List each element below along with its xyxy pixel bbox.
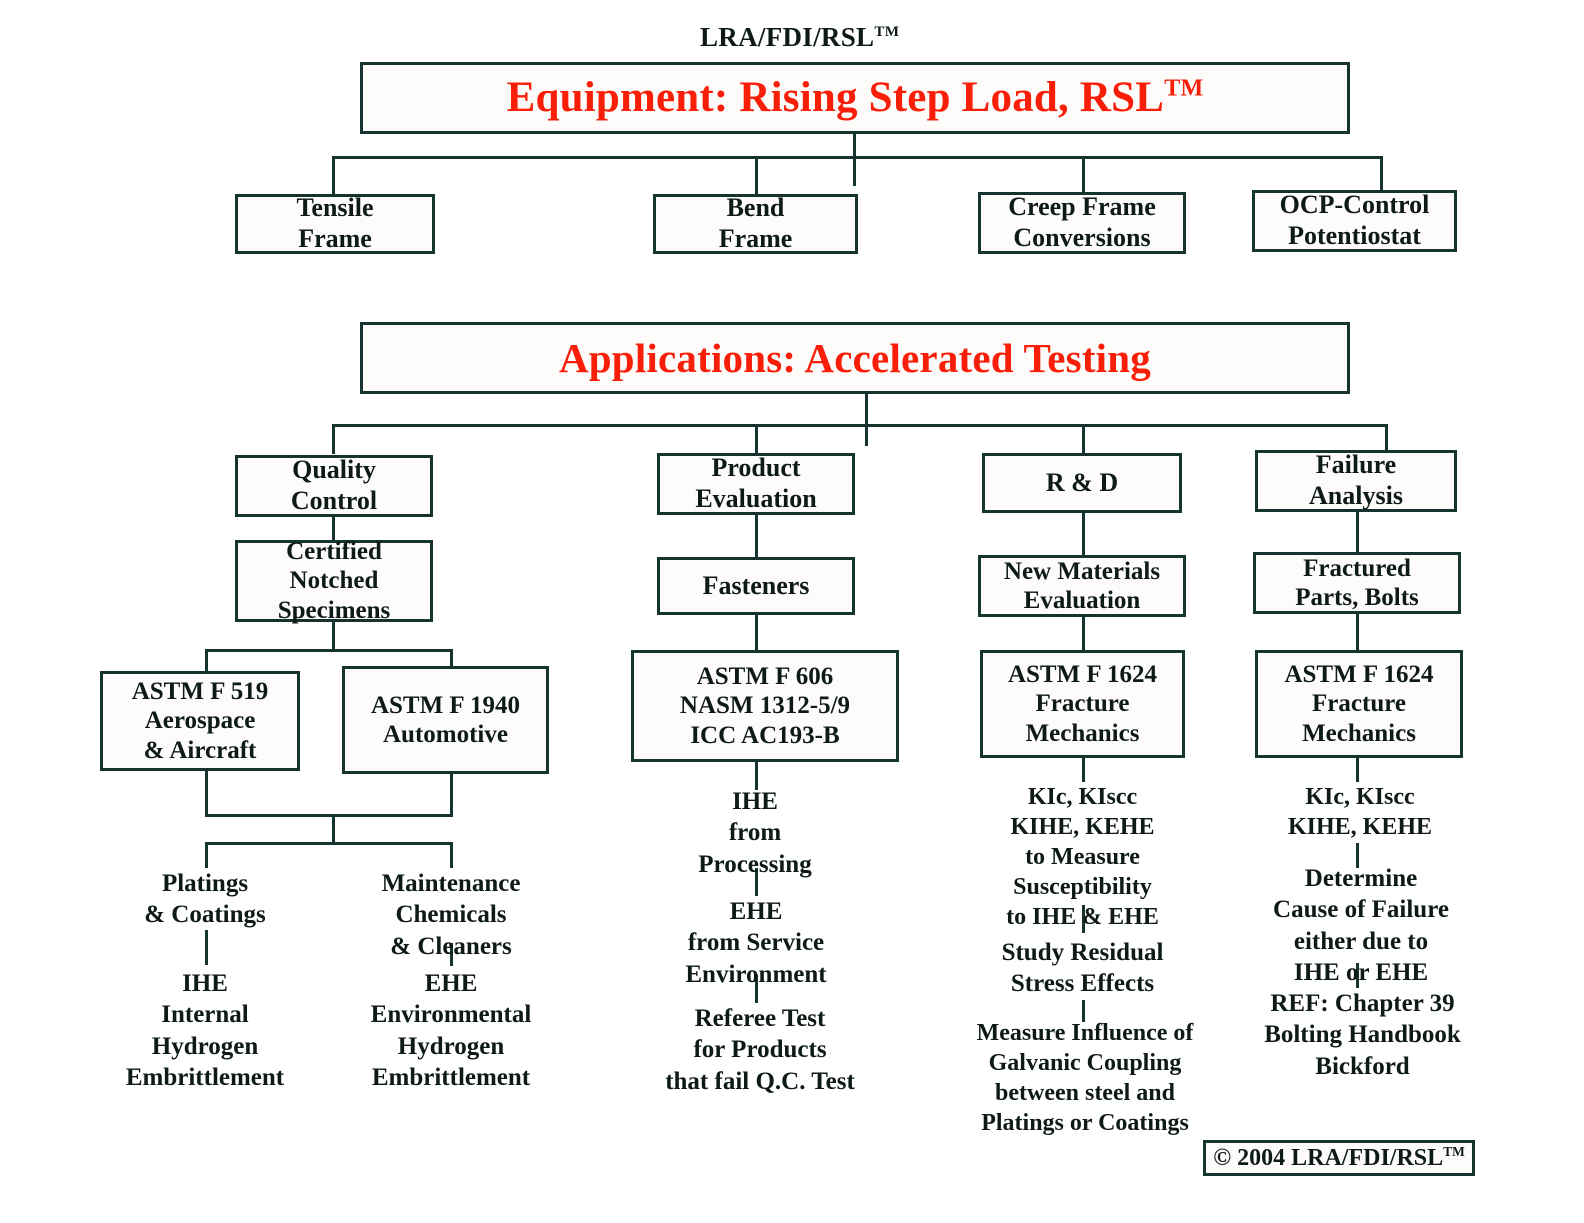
connector-astm-split-bus: [205, 649, 453, 652]
connector-rd-to-new-materials: [1082, 513, 1085, 555]
column-head-failure-analysis[interactable]: Failure Analysis: [1255, 450, 1457, 512]
label-platings-and-coatings: Platings & Coatings: [105, 868, 305, 931]
box-astm-f606-nasm-icc[interactable]: ASTM F 606 NASM 1312-5/9 ICC AC193-B: [631, 650, 899, 762]
equipment-title-box: Equipment: Rising Step Load, RSLTM: [360, 62, 1350, 134]
line-2: KIHE, KEHE: [1010, 814, 1154, 840]
line-2: Notched: [290, 567, 379, 594]
line-2: Automotive: [383, 721, 508, 748]
line-3: Specimens: [278, 597, 391, 624]
line-3: ICC AC193-B: [690, 722, 839, 749]
line-1: ASTM F 519: [132, 678, 269, 705]
line-3: & Aircraft: [144, 737, 257, 764]
line-1: Determine: [1305, 865, 1417, 892]
line-2: Frame: [298, 224, 372, 253]
equipment-box-creep-frame-conversions[interactable]: Creep Frame Conversions: [978, 192, 1186, 254]
line-2: Cause of Failure: [1273, 896, 1449, 923]
line-1: Quality: [292, 455, 376, 484]
line-3: Mechanics: [1302, 720, 1416, 747]
line-4: Embrittlement: [126, 1064, 284, 1091]
line-3: & Cleaners: [390, 933, 512, 960]
line-1: R & D: [1046, 468, 1118, 497]
equipment-title-text: Equipment: Rising Step Load, RSLTM: [363, 73, 1347, 124]
line-2: & Coatings: [144, 901, 266, 928]
box-fasteners[interactable]: Fasteners: [657, 557, 855, 615]
connector-equipment-trunk: [853, 134, 856, 186]
line-1: Tensile: [296, 193, 373, 222]
connector-equipment-drop-4: [1380, 156, 1383, 194]
line-2: Bolting Handbook: [1264, 1021, 1461, 1048]
label-ihe-from-processing: IHE from Processing: [645, 786, 865, 880]
line-3: Bickford: [1315, 1053, 1409, 1080]
connector-equipment-drop-3: [1082, 156, 1085, 194]
connector-f1940-down: [450, 774, 453, 816]
connector-leaf-split-bus: [205, 842, 453, 845]
line-4: IHE or EHE: [1294, 959, 1428, 986]
line-1: Measure Influence of: [977, 1020, 1194, 1046]
line-1: Fasteners: [703, 571, 810, 600]
connector-applications-drop-1: [332, 424, 335, 454]
connector-equipment-drop-1: [332, 156, 335, 194]
flowchart-canvas: LRA/FDI/RSLTM Equipment: Rising Step Loa…: [0, 0, 1584, 1223]
equipment-box-ocp-control-potentiostat[interactable]: OCP-Control Potentiostat: [1252, 190, 1457, 252]
column-head-product-evaluation[interactable]: Product Evaluation: [657, 453, 855, 515]
line-2: Control: [291, 486, 377, 515]
label-kic-measure-susceptibility: KIc, KIscc KIHE, KEHE to Measure Suscept…: [965, 782, 1200, 932]
line-2: Conversions: [1013, 223, 1150, 252]
line-2: from Service: [688, 929, 824, 956]
line-1: KIc, KIscc: [1305, 784, 1414, 810]
line-2: Internal: [161, 1001, 249, 1028]
connector-applications-trunk: [865, 394, 868, 446]
connector-platings-to-ihe: [205, 930, 208, 965]
label-study-residual-stress-effects: Study Residual Stress Effects: [960, 937, 1205, 1000]
connector-applications-drop-3: [1082, 424, 1085, 454]
connector-astm-drop-left: [205, 649, 208, 671]
connector-new-materials-to-astm: [1082, 617, 1085, 650]
line-2: Environmental: [371, 1001, 532, 1028]
line-2: Evaluation: [695, 484, 816, 513]
line-3: Environment: [685, 961, 826, 988]
line-2: Chemicals: [395, 901, 506, 928]
connector-equipment-bus: [332, 156, 1382, 159]
line-1: Bend: [727, 193, 785, 222]
line-3: Hydrogen: [152, 1033, 259, 1060]
line-2: Parts, Bolts: [1295, 584, 1419, 611]
box-astm-f1624-rd[interactable]: ASTM F 1624 Fracture Mechanics: [980, 650, 1185, 758]
line-3: either due to: [1294, 928, 1428, 955]
label-ihe-internal-hydrogen-embrittlement: IHE Internal Hydrogen Embrittlement: [95, 968, 315, 1093]
line-1: ASTM F 1624: [1008, 661, 1157, 688]
applications-title-text: Applications: Accelerated Testing: [363, 334, 1347, 382]
copyright-box: © 2004 LRA/FDI/RSLTM: [1203, 1140, 1475, 1176]
line-2: KIHE, KEHE: [1288, 814, 1432, 840]
equipment-box-ocp-control-potentiostat-label: OCP-Control Potentiostat: [1255, 190, 1454, 251]
line-4: Susceptibility: [1013, 874, 1152, 900]
connector-astm-merge-trunk: [332, 814, 335, 842]
box-new-materials-evaluation[interactable]: New Materials Evaluation: [978, 555, 1186, 617]
connector-f519-down: [205, 771, 208, 816]
line-1: Creep Frame: [1008, 192, 1156, 221]
box-astm-f1940[interactable]: ASTM F 1940 Automotive: [342, 666, 549, 774]
line-1: New Materials: [1004, 558, 1160, 585]
connector-leaf-drop-left: [205, 842, 208, 868]
line-1: OCP-Control: [1280, 190, 1430, 219]
equipment-box-bend-frame-label: Bend Frame: [656, 193, 855, 254]
line-3: to Measure: [1025, 844, 1140, 870]
line-1: KIc, KIscc: [1028, 784, 1137, 810]
line-2: Aerospace: [145, 707, 256, 734]
label-kic-kiscc-kihe-kehe: KIc, KIscc KIHE, KEHE: [1245, 782, 1475, 842]
connector-astm1624-to-kic: [1082, 758, 1085, 782]
line-1: Referee Test: [695, 1005, 826, 1032]
line-1: IHE: [732, 788, 778, 815]
connector-leaf-drop-right: [450, 842, 453, 868]
box-certified-notched-specimens[interactable]: Certified Notched Specimens: [235, 540, 433, 622]
line-3: Hydrogen: [398, 1033, 505, 1060]
line-1: EHE: [425, 970, 478, 997]
line-2: NASM 1312-5/9: [680, 692, 850, 719]
line-1: Certified: [286, 538, 382, 565]
line-1: Failure: [1316, 450, 1396, 479]
box-fractured-parts-bolts[interactable]: Fractured Parts, Bolts: [1253, 552, 1461, 614]
brand-label: LRA/FDI/RSLTM: [700, 22, 899, 53]
copyright-text: © 2004 LRA/FDI/RSLTM: [1213, 1145, 1465, 1172]
line-1: IHE: [182, 970, 228, 997]
connector-astm-merge-bus: [205, 814, 453, 817]
line-2: for Products: [693, 1036, 826, 1063]
line-1: Platings: [162, 870, 248, 897]
line-3: Processing: [698, 851, 811, 878]
line-3: between steel and: [995, 1080, 1175, 1106]
line-1: EHE: [730, 898, 783, 925]
connector-fractured-to-astm: [1356, 614, 1359, 650]
connector-specimens-down: [332, 622, 335, 649]
equipment-box-tensile-frame[interactable]: Tensile Frame: [235, 194, 435, 254]
line-2: Fracture: [1036, 690, 1130, 717]
line-1: Product: [711, 453, 800, 482]
line-2: Stress Effects: [1011, 970, 1154, 997]
connector-applications-drop-2: [755, 424, 758, 454]
connector-fasteners-to-astm: [755, 615, 758, 650]
line-5: to IHE & EHE: [1006, 904, 1159, 930]
label-ref-bolting-handbook: REF: Chapter 39 Bolting Handbook Bickfor…: [1235, 988, 1490, 1082]
label-ehe-from-service-environment: EHE from Service Environment: [640, 896, 872, 990]
label-ehe-environmental-hydrogen-embrittlement: EHE Environmental Hydrogen Embrittlement: [340, 968, 562, 1093]
line-2: Frame: [719, 224, 793, 253]
line-4: Platings or Coatings: [981, 1110, 1189, 1136]
equipment-box-tensile-frame-label: Tensile Frame: [238, 193, 432, 254]
label-maintenance-chemicals-and-cleaners: Maintenance Chemicals & Cleaners: [345, 868, 557, 962]
line-2: from: [729, 819, 781, 846]
label-referee-test: Referee Test for Products that fail Q.C.…: [630, 1003, 890, 1097]
line-1: Fractured: [1303, 555, 1411, 582]
line-4: Embrittlement: [372, 1064, 530, 1091]
connector-astm1624fa-to-kic: [1356, 758, 1359, 782]
line-1: Study Residual: [1002, 939, 1164, 966]
equipment-box-bend-frame[interactable]: Bend Frame: [653, 194, 858, 254]
box-astm-f1624-fa[interactable]: ASTM F 1624 Fracture Mechanics: [1255, 650, 1463, 758]
line-1: ASTM F 1940: [371, 692, 520, 719]
equipment-box-creep-frame-conversions-label: Creep Frame Conversions: [981, 192, 1183, 253]
line-2: Evaluation: [1024, 587, 1141, 614]
connector-equipment-drop-2: [755, 156, 758, 194]
line-1: Maintenance: [382, 870, 521, 897]
connector-applications-bus: [332, 424, 1387, 427]
line-2: Fracture: [1312, 690, 1406, 717]
line-1: REF: Chapter 39: [1270, 990, 1454, 1017]
column-head-quality-control[interactable]: Quality Control: [235, 455, 433, 517]
label-measure-influence-galvanic-coupling: Measure Influence of Galvanic Coupling b…: [950, 1018, 1220, 1138]
column-head-r-and-d[interactable]: R & D: [982, 453, 1182, 513]
line-1: ASTM F 1624: [1284, 661, 1433, 688]
line-3: Mechanics: [1026, 720, 1140, 747]
line-2: Potentiostat: [1288, 221, 1421, 250]
line-3: that fail Q.C. Test: [665, 1068, 855, 1095]
line-2: Galvanic Coupling: [989, 1050, 1182, 1076]
applications-title-box: Applications: Accelerated Testing: [360, 322, 1350, 394]
connector-fa-to-fractured-parts: [1356, 512, 1359, 552]
line-1: ASTM F 606: [697, 663, 834, 690]
label-determine-cause-of-failure: Determine Cause of Failure either due to…: [1240, 863, 1482, 988]
box-astm-f519[interactable]: ASTM F 519 Aerospace & Aircraft: [100, 671, 300, 771]
connector-pe-to-fasteners: [755, 515, 758, 557]
line-2: Analysis: [1309, 481, 1403, 510]
